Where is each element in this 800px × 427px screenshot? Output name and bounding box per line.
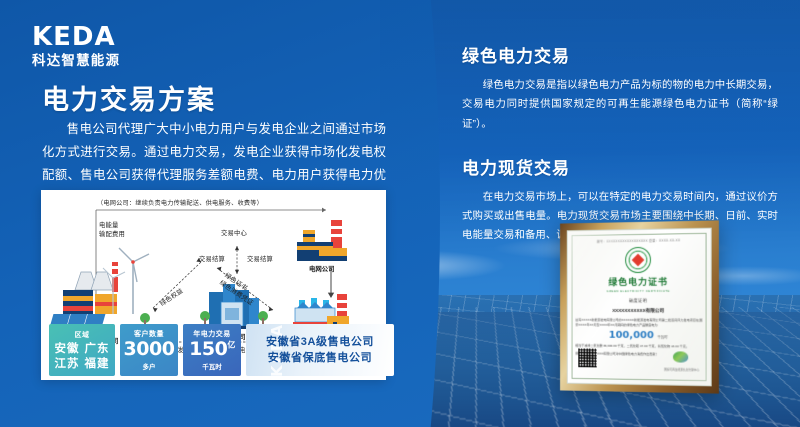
issuer-logo-icon	[673, 351, 688, 362]
certificate-amount-number: 100,000	[609, 330, 654, 341]
stat-unit-customers: 多户	[143, 361, 156, 371]
stat-label-region: 区域	[75, 330, 90, 340]
certificate-title: 绿色电力证书	[575, 275, 702, 289]
diagram-label-trading-center: 交易中心	[221, 230, 247, 239]
stats-strip: 区域 安徽 广东江苏 福建 客户数量 3000 多户 年电力交易 150亿 千瓦…	[49, 324, 394, 376]
certificate-body: 兹有XXXXX新能源发电有限公司的XXXXXX新能源发电有限公司第二批道具风力发…	[575, 318, 702, 328]
brand-name: 科达智慧能源	[32, 54, 120, 68]
page-title: 电力交易方案	[42, 78, 216, 117]
qualification-badge-panel: KEDA 安徽省3A级售电公司 安徽省保底售电公司	[246, 324, 394, 376]
slide-canvas: KEDA 科达智慧能源 电力交易方案 售电公司代理广大中小电力用户与发电企业之间…	[0, 0, 800, 427]
grid-factory-icon	[297, 220, 347, 261]
brand-logo: KEDA 科达智慧能源	[32, 24, 120, 68]
diagram-label-settlement-right: 交易结算	[247, 256, 273, 265]
section-title-green-power: 绿色电力交易	[462, 42, 778, 67]
stat-value-customers: 3000	[124, 340, 175, 360]
section-title-spot-trading: 电力现货交易	[462, 154, 778, 179]
certificate-amount: 100,000 千瓦时	[575, 330, 702, 342]
certificate-subtitle: 碳度证明	[575, 298, 702, 304]
certificate-amount-unit: 千瓦时	[657, 335, 667, 339]
certificate-page: 编号：XXXXXXXXXXXXXXXXXX 总量：XXXX-XX-XX 绿色电力…	[567, 228, 712, 387]
stat-card-annual-trade: 年电力交易 150亿 千瓦时	[183, 324, 241, 376]
stat-card-customers: 客户数量 3000 多户	[120, 324, 178, 376]
power-plant-wind-icon	[51, 248, 150, 326]
certificate-company: XXXXXXXXXXX有限公司	[575, 308, 702, 314]
qr-code-icon	[578, 348, 596, 367]
stat-card-region: 区域 安徽 广东江苏 福建	[49, 324, 115, 376]
stat-value-annual-trade: 150亿	[189, 340, 235, 360]
section-green-power-trading: 绿色电力交易 绿色电力交易是指以绿色电力产品为标的物的电力中长期交易，交易电力同…	[462, 42, 778, 134]
badge-line-1: 安徽省3A级售电公司	[266, 334, 374, 351]
certificate-frame: 编号：XXXXXXXXXXXXXXXXXX 总量：XXXX-XX-XX 绿色电力…	[560, 220, 719, 393]
right-content-column: 绿色电力交易 绿色电力交易是指以绿色电力产品为标的物的电力中长期交易，交易电力同…	[462, 42, 778, 246]
stat-number-annual-trade: 150	[189, 338, 227, 360]
certificate-serial: 编号：XXXXXXXXXXXXXXXXXX 总量：XXXX-XX-XX	[575, 237, 702, 244]
diagram-label-settlement-left: 交易结算	[199, 256, 225, 265]
stat-sup-annual-trade: 亿	[227, 341, 235, 350]
certificate-title-en: GREEN ELECTRICITY CERTIFICATE	[575, 289, 702, 293]
badge-line-2: 安徽省保底售电公司	[268, 350, 372, 367]
certificate-issuer: 国家可再生能源信息管理中心	[664, 367, 699, 372]
section-body-green-power: 绿色电力交易是指以绿色电力产品为标的物的电力中长期交易，交易电力同时提供国家规定…	[462, 76, 778, 134]
stat-value-region: 安徽 广东江苏 福建	[54, 341, 109, 370]
keda-logo-icon: KEDA	[32, 24, 120, 50]
stat-unit-annual-trade: 千瓦时	[202, 361, 222, 371]
diagram-node-label-grid: 电网公司	[309, 264, 335, 273]
green-power-seal-icon	[625, 247, 651, 273]
green-certificate-photo: 编号：XXXXXXXXXXXXXXXXXX 总量：XXXX-XX-XX 绿色电力…	[560, 220, 719, 393]
diagram-label-energy-fee: 电能量输配费用	[99, 222, 125, 239]
